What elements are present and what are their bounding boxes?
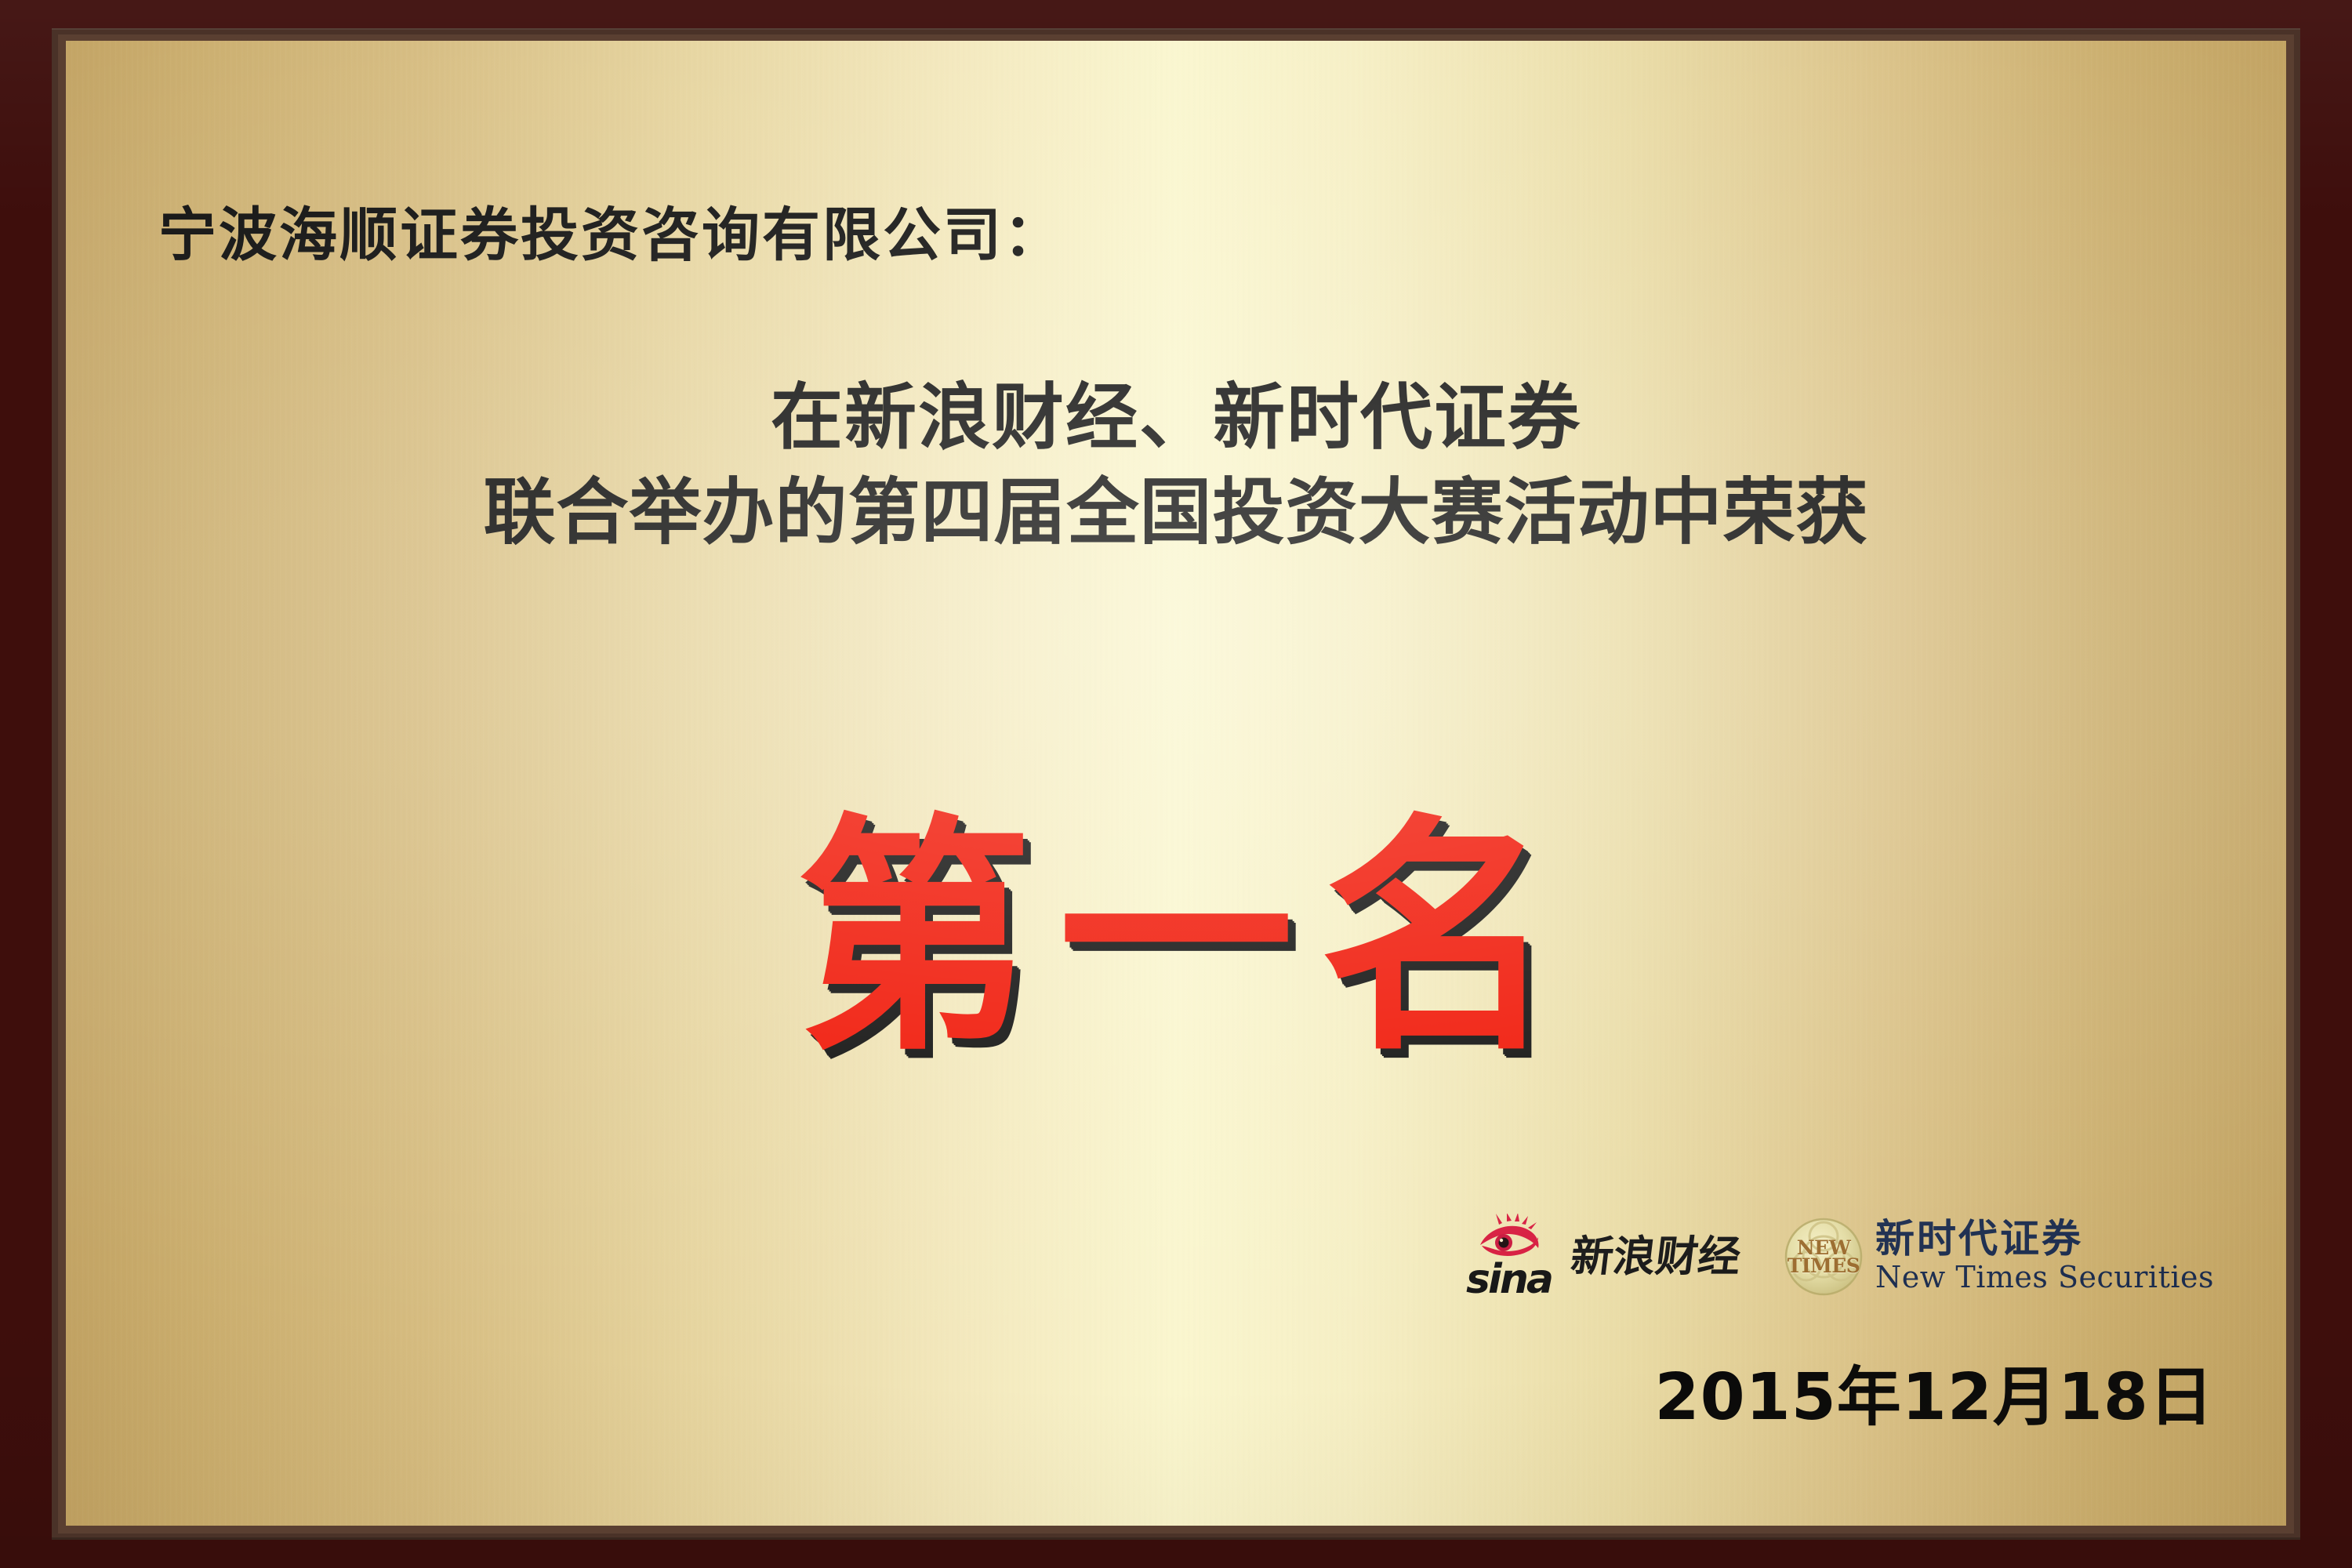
plate-content: 宁波海顺证券投资咨询有限公司： 在新浪财经、新时代证券 联合举办的第四届全国投资… (66, 41, 2286, 1526)
sina-eye-icon (1475, 1214, 1548, 1259)
new-times-name-cn: 新时代证券 (1875, 1218, 2214, 1260)
citation-body: 在新浪财经、新时代证券 联合举办的第四届全国投资大赛活动中荣获 (66, 370, 2286, 561)
citation-line-1: 在新浪财经、新时代证券 (66, 370, 2286, 465)
sina-logomark: sina (1466, 1215, 1563, 1298)
logo-sina-finance: sina 新浪财经 (1466, 1215, 1740, 1298)
sponsor-logos: sina 新浪财经 (1466, 1215, 2214, 1298)
logo-new-times-securities: NEW TIMES 新时代证券 New Times Securities (1783, 1216, 2214, 1298)
award-rank-title: 第一名 (66, 813, 2286, 1062)
gold-plate: 宁波海顺证券投资咨询有限公司： 在新浪财经、新时代证券 联合举办的第四届全国投资… (66, 41, 2286, 1526)
new-times-emblem-icon: NEW TIMES (1783, 1216, 1864, 1298)
new-times-emblem-label: NEW TIMES (1783, 1239, 1864, 1275)
sina-finance-name: 新浪财经 (1569, 1236, 1744, 1278)
award-plaque: 宁波海顺证券投资咨询有限公司： 在新浪财经、新时代证券 联合举办的第四届全国投资… (0, 0, 2352, 1568)
new-times-wordmark: 新时代证券 New Times Securities (1875, 1218, 2214, 1295)
award-date: 2015年12月18日 (1655, 1366, 2214, 1430)
citation-line-2: 联合举办的第四届全国投资大赛活动中荣获 (66, 465, 2286, 560)
recipient-name: 宁波海顺证券投资咨询有限公司： (158, 207, 1064, 265)
emblem-line-2: TIMES (1783, 1257, 1864, 1275)
sina-wordmark: sina (1466, 1259, 1552, 1300)
new-times-name-en: New Times Securities (1875, 1260, 2214, 1295)
